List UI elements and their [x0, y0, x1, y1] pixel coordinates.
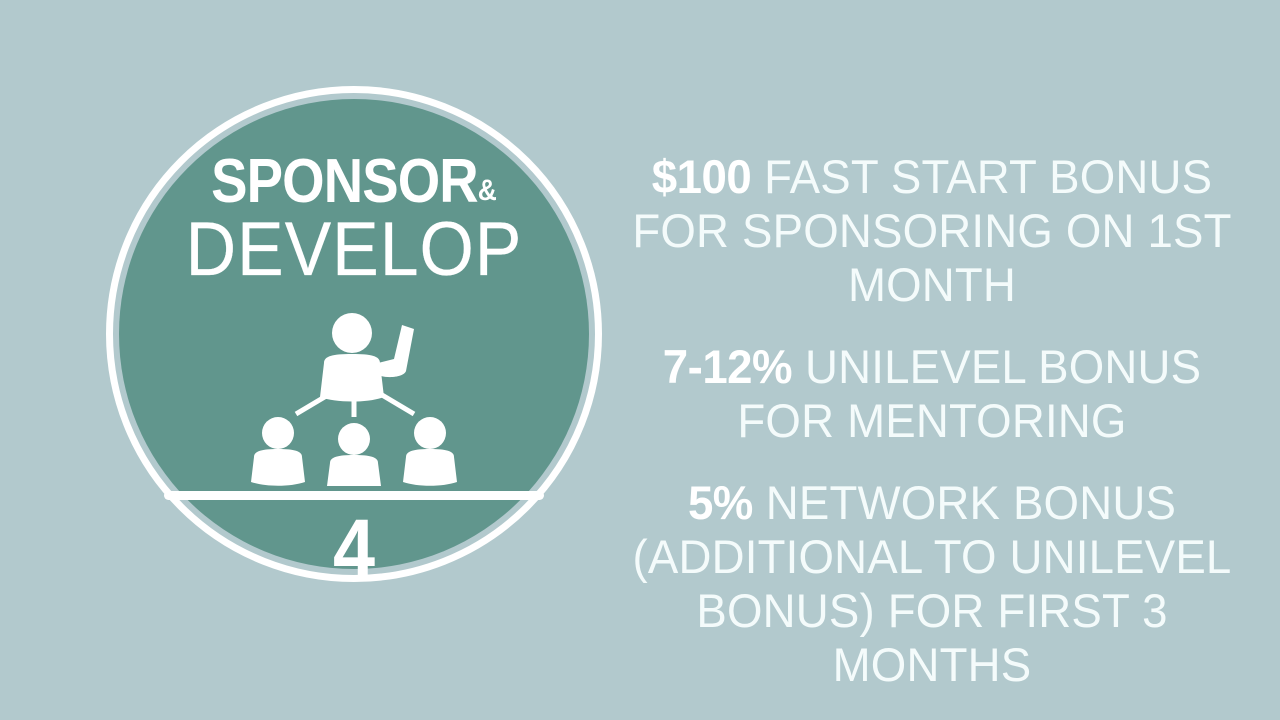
badge-title-secondary: DEVELOP	[138, 212, 570, 288]
badge-divider	[164, 491, 544, 500]
benefit-item-1: $100 FAST START BONUS FOR SPONSORING ON …	[624, 150, 1241, 312]
network-hierarchy-icon	[238, 311, 470, 486]
badge-title-ampersand: &	[478, 174, 497, 207]
benefit-item-3: 5% NETWORK BONUS (ADDITIONAL TO UNILEVEL…	[624, 476, 1241, 692]
sponsor-develop-badge: SPONSOR& DEVELOP	[106, 86, 602, 582]
benefits-list: $100 FAST START BONUS FOR SPONSORING ON …	[614, 150, 1250, 692]
slide-canvas: SPONSOR& DEVELOP	[0, 0, 1280, 720]
badge-step-number: 4	[143, 507, 566, 591]
benefit-3-highlight: 5%	[688, 476, 753, 529]
badge-content: SPONSOR& DEVELOP	[119, 99, 589, 569]
benefit-1-highlight: $100	[652, 150, 751, 203]
badge-disc: SPONSOR& DEVELOP	[119, 99, 589, 569]
benefit-item-2: 7-12% UNILEVEL BONUS FOR MENTORING	[624, 340, 1241, 448]
badge-title-primary-text: SPONSOR	[211, 147, 478, 216]
benefit-2-highlight: 7-12%	[663, 340, 792, 393]
benefit-2-text: UNILEVEL BONUS FOR MENTORING	[737, 340, 1201, 447]
